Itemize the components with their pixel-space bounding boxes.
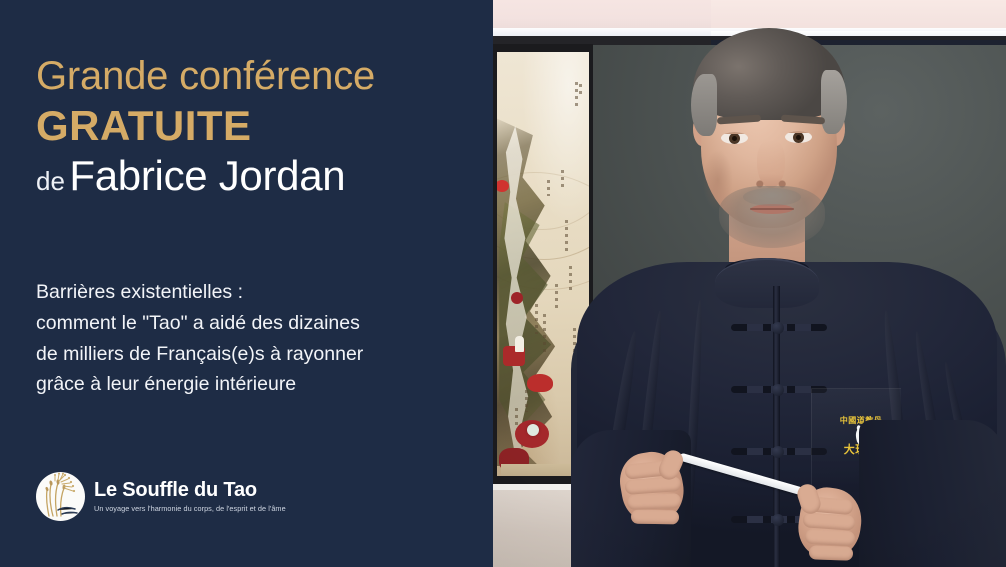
finger	[809, 545, 853, 561]
subtitle-block: Barrières existentielles : comment le "T…	[36, 277, 476, 400]
logo-tagline: Un voyage vers l'harmonie du corps, de l…	[94, 504, 286, 513]
brand-logo: Le Souffle du Tao Un voyage vers l'harmo…	[36, 472, 286, 521]
subtitle-line: grâce à leur énergie intérieure	[36, 369, 476, 400]
headline-line-1: Grande conférence	[36, 55, 486, 98]
eyelid-left	[721, 132, 748, 134]
iris-right	[793, 132, 804, 143]
eyelid-right	[785, 131, 812, 133]
eye-right	[785, 131, 812, 143]
mandarin-collar	[715, 258, 819, 308]
reeds-in-circle-icon	[36, 472, 85, 521]
conference-banner: 中國道教丹士 大理山 Grande conférence G	[0, 0, 1006, 567]
headline-prefix: de	[36, 166, 65, 196]
sleeve-right	[859, 420, 1006, 567]
iris-left	[729, 133, 740, 144]
finger	[627, 493, 681, 510]
logo-text-block: Le Souffle du Tao Un voyage vers l'harmo…	[94, 479, 286, 515]
lip-line	[750, 208, 794, 210]
eye-left	[721, 132, 748, 144]
subtitle-line: comment le "Tao" a aidé des dizaines	[36, 308, 476, 339]
frog-knot	[772, 384, 784, 396]
moustache	[743, 188, 801, 206]
subtitle-line: de milliers de Français(e)s à rayonner	[36, 339, 476, 370]
headline-line-2: GRATUITE	[36, 102, 486, 149]
hair-temple-right	[821, 70, 847, 134]
text-panel: Grande conférence GRATUITE de Fabrice Jo…	[0, 0, 493, 567]
headline-block: Grande conférence GRATUITE de Fabrice Jo…	[36, 55, 486, 199]
headline-speaker-line: de Fabrice Jordan	[36, 153, 486, 199]
speaker-figure: 中國道教丹士 大理山	[493, 0, 1006, 567]
hair-temple-left	[691, 74, 717, 136]
logo-title: Le Souffle du Tao	[94, 479, 286, 501]
finger	[631, 510, 679, 525]
subtitle-line: Barrières existentielles :	[36, 277, 476, 308]
frog-knot	[772, 322, 784, 334]
finger	[805, 529, 856, 547]
frog-knot	[772, 514, 784, 526]
speaker-name: Fabrice Jordan	[69, 152, 345, 199]
frog-knot	[772, 446, 784, 458]
reeds-icon-svg	[36, 472, 85, 521]
speaker-photo: 中國道教丹士 大理山	[493, 0, 1006, 567]
